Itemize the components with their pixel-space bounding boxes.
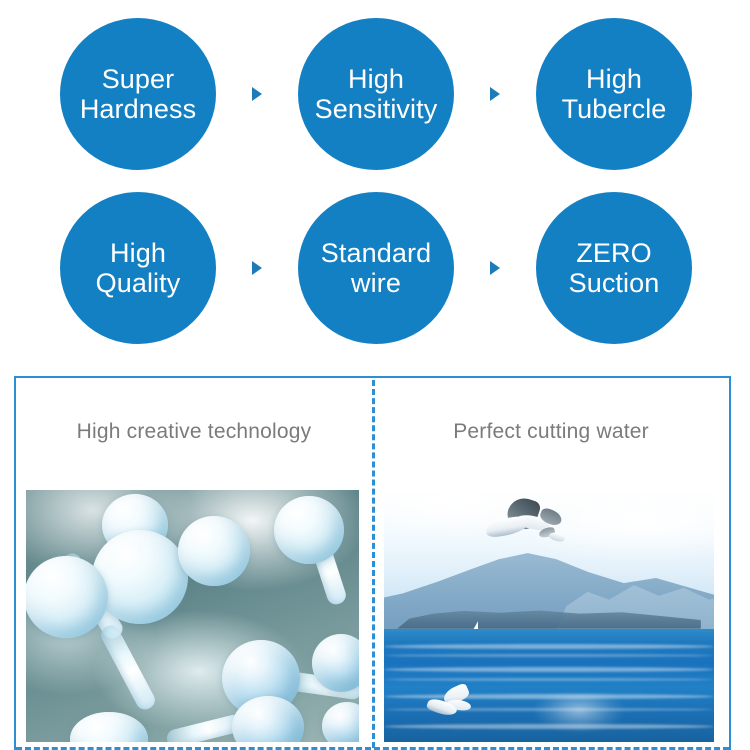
feature-bubble-label: High Tubercle bbox=[561, 64, 668, 124]
water-ripple bbox=[384, 724, 714, 729]
seagull-icon bbox=[427, 687, 479, 721]
triangle-right-icon bbox=[490, 261, 500, 275]
flow-arrow-slot bbox=[216, 182, 298, 354]
feature-bubble-label: High Quality bbox=[95, 238, 182, 298]
flow-arrow-slot bbox=[454, 182, 536, 354]
molecule-sphere bbox=[70, 712, 148, 742]
lake-seagull-photo bbox=[384, 490, 714, 742]
triangle-right-icon bbox=[252, 87, 262, 101]
showcase-panel-right: Perfect cutting water bbox=[373, 378, 729, 750]
photo-background bbox=[26, 490, 359, 742]
water-ripple bbox=[384, 644, 714, 649]
feature-row-1: Super Hardness High Sensitivity High Tub… bbox=[0, 8, 750, 180]
showcase-caption-right: Perfect cutting water bbox=[373, 420, 729, 444]
feature-bubble-label: Super Hardness bbox=[79, 64, 197, 124]
showcase-panel: High creative technology bbox=[14, 376, 731, 750]
molecule-sphere bbox=[178, 516, 250, 586]
feature-flow-diagram: Super Hardness High Sensitivity High Tub… bbox=[0, 0, 750, 360]
feature-bubble-zero-suction[interactable]: ZERO Suction bbox=[536, 192, 692, 344]
seagull-icon bbox=[539, 528, 565, 543]
water-ripple bbox=[384, 654, 714, 657]
feature-bubble-high-sensitivity[interactable]: High Sensitivity bbox=[298, 18, 454, 170]
feature-bubble-label: Standard wire bbox=[320, 238, 432, 298]
water-ripple bbox=[384, 667, 714, 672]
showcase-panel-left: High creative technology bbox=[16, 378, 372, 750]
molecule-sphere bbox=[274, 496, 344, 564]
lake-water bbox=[384, 629, 714, 742]
flow-arrow-slot bbox=[216, 8, 298, 180]
flow-arrow-slot bbox=[454, 8, 536, 180]
molecule-sphere bbox=[322, 702, 359, 742]
seagull-wing bbox=[485, 514, 531, 538]
triangle-right-icon bbox=[252, 261, 262, 275]
water-sun-glint bbox=[523, 694, 635, 735]
seagull-wing bbox=[548, 531, 566, 543]
water-ripple bbox=[384, 678, 714, 681]
molecule-sphere bbox=[92, 530, 188, 624]
feature-row-2: High Quality Standard wire ZERO Suction bbox=[0, 182, 750, 354]
feature-bubble-label: ZERO Suction bbox=[568, 238, 661, 298]
feature-bubble-label: High Sensitivity bbox=[314, 64, 439, 124]
crystal-molecule-photo bbox=[26, 490, 359, 742]
feature-bubble-high-tubercle[interactable]: High Tubercle bbox=[536, 18, 692, 170]
molecule-bond bbox=[98, 622, 158, 712]
showcase-caption-left: High creative technology bbox=[16, 420, 372, 444]
feature-bubble-high-quality[interactable]: High Quality bbox=[60, 192, 216, 344]
photo-background bbox=[384, 490, 714, 742]
triangle-right-icon bbox=[490, 87, 500, 101]
molecule-sphere bbox=[26, 556, 108, 638]
feature-bubble-super-hardness[interactable]: Super Hardness bbox=[60, 18, 216, 170]
feature-bubble-standard-wire[interactable]: Standard wire bbox=[298, 192, 454, 344]
